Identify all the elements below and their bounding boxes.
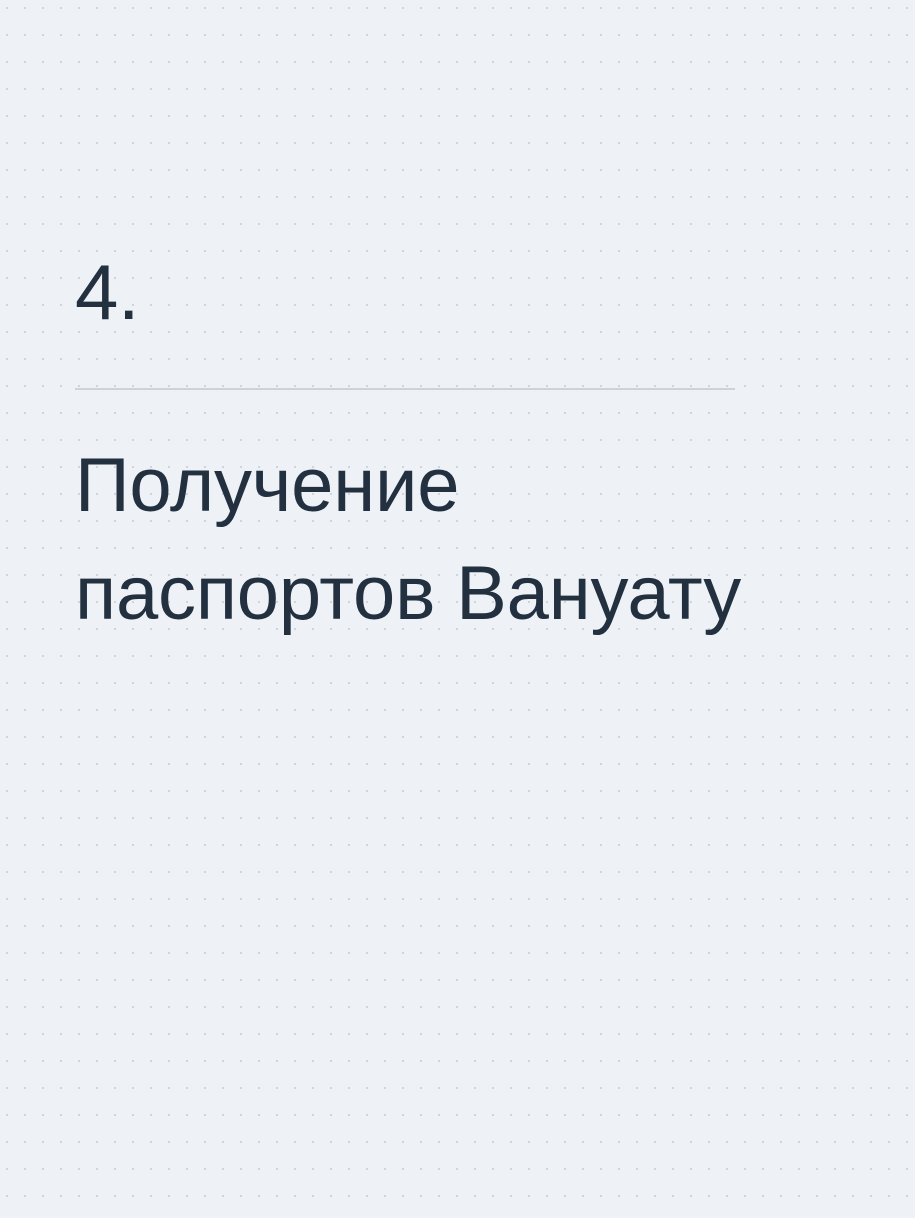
page-title: Получение паспортов Вануату [75,432,815,648]
section-divider-rule [75,388,735,390]
slide-canvas: 4. Получение паспортов Вануату [0,0,915,1218]
page-title-line-1: Получение [75,432,815,540]
section-number: 4. [75,250,835,336]
slide-content: 4. Получение паспортов Вануату [75,250,835,648]
page-title-line-2: паспортов Вануату [75,540,815,648]
